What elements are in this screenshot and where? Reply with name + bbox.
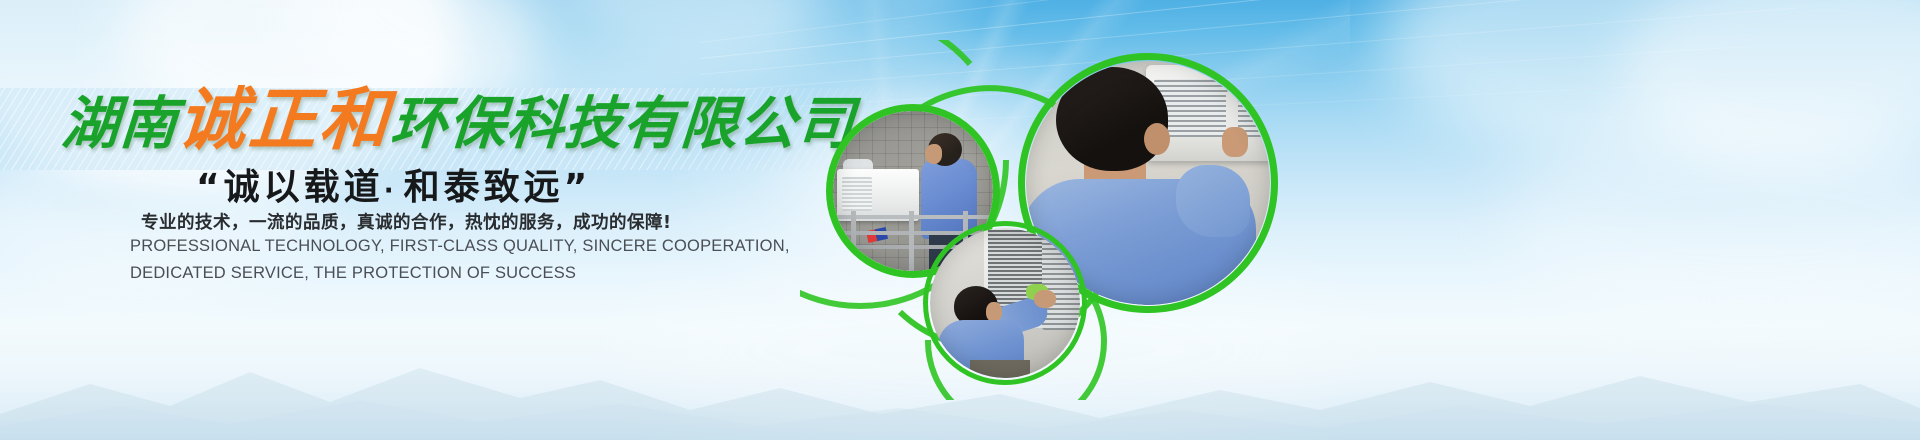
company-title: 湖南诚正和环保科技有限公司 xyxy=(60,86,858,154)
slogan-separator: · xyxy=(384,176,404,206)
banner-copy: 湖南诚正和环保科技有限公司 “诚以载道·和泰致远” 专业的技术，一流的品质，真诚… xyxy=(0,0,860,440)
slogan-close-quote: ” xyxy=(564,167,592,208)
subtitle-english: PROFESSIONAL TECHNOLOGY, FIRST-CLASS QUA… xyxy=(130,233,790,287)
slogan-left: 诚以载道 xyxy=(224,167,384,208)
slogan-right: 和泰致远 xyxy=(404,167,564,208)
slogan-open-quote: “ xyxy=(196,167,224,208)
subtitle-chinese: 专业的技术，一流的品质，真诚的合作，热忱的服务，成功的保障! xyxy=(141,209,671,234)
company-banner: 湖南诚正和环保科技有限公司 “诚以载道·和泰致远” 专业的技术，一流的品质，真诚… xyxy=(0,0,1920,440)
subtitle-english-line-2: DEDICATED SERVICE, THE PROTECTION OF SUC… xyxy=(130,260,790,287)
company-title-tail: 环保科技有限公司 xyxy=(389,95,857,152)
company-title-lead: 湖南 xyxy=(60,95,180,152)
subtitle-english-line-1: PROFESSIONAL TECHNOLOGY, FIRST-CLASS QUA… xyxy=(130,233,790,260)
company-slogan: “诚以载道·和泰致远” xyxy=(196,158,591,210)
company-title-accent: 诚正和 xyxy=(176,86,394,154)
